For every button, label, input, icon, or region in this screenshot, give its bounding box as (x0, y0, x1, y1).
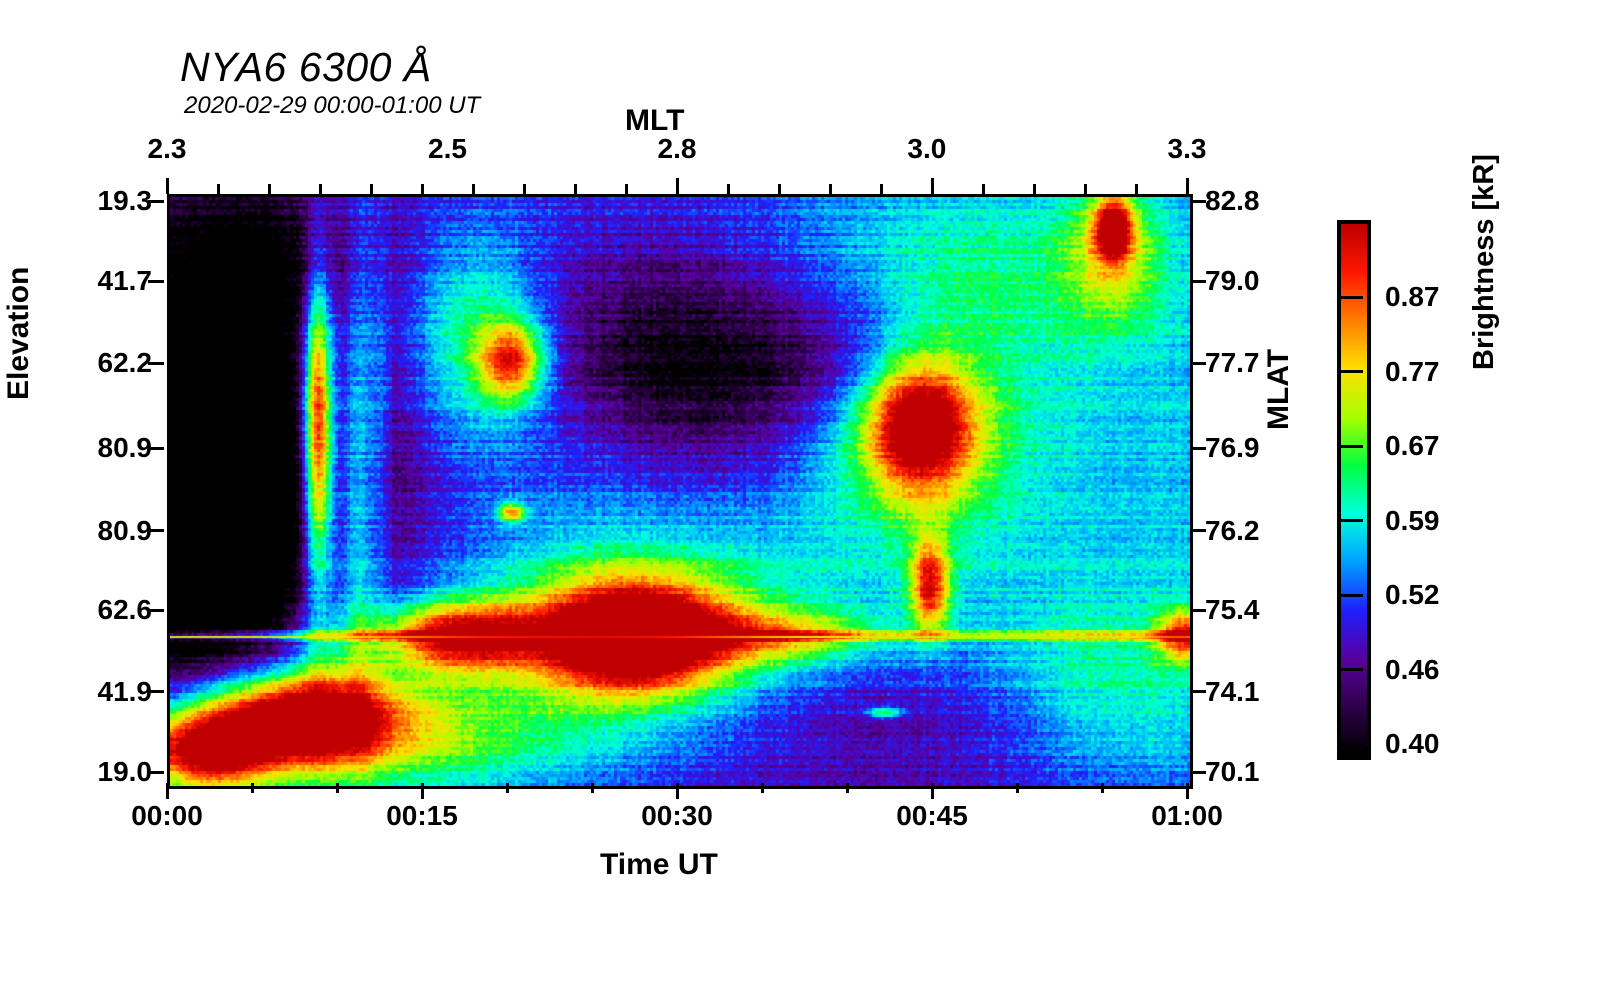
time-tick-mark (251, 783, 254, 793)
time-tick-mark (1186, 783, 1189, 799)
time-tick-mark (591, 783, 594, 793)
time-tick-mark (761, 783, 764, 793)
mlt-tick-label: 3.0 (907, 133, 946, 165)
colorbar[interactable] (1337, 220, 1371, 760)
time-tick-label: 00:15 (386, 800, 458, 832)
mlt-tick-mark (472, 184, 475, 194)
colorbar-tick-label: 0.87 (1385, 281, 1440, 313)
mlt-tick-label: 2.8 (658, 133, 697, 165)
mlat-tick-mark (1190, 362, 1206, 365)
mlat-axis-label: MLAT (1262, 349, 1296, 430)
elevation-tick-label: 41.7 (66, 265, 152, 297)
colorbar-tick-label: 0.67 (1385, 430, 1440, 462)
mlat-tick-mark (1190, 690, 1206, 693)
elevation-tick-label: 80.9 (66, 515, 152, 547)
colorbar-tick-separator (1337, 668, 1363, 671)
mlat-tick-label: 76.2 (1205, 515, 1260, 547)
mlt-tick-mark (1135, 184, 1138, 194)
mlt-tick-mark (1033, 184, 1036, 194)
time-tick-label: 00:45 (896, 800, 968, 832)
mlt-tick-mark (982, 184, 985, 194)
colorbar-tick-separator (1337, 445, 1363, 448)
mlat-tick-label: 75.4 (1205, 594, 1260, 626)
mlt-tick-mark (931, 178, 934, 194)
elevation-tick-mark (148, 280, 164, 283)
colorbar-tick-separator (1337, 594, 1363, 597)
time-tick-mark (846, 783, 849, 793)
colorbar-tick-separator (1337, 743, 1363, 746)
colorbar-tick-label: 0.59 (1385, 505, 1440, 537)
time-axis-label: Time UT (600, 848, 718, 882)
mlt-tick-mark (727, 184, 730, 194)
elevation-tick-mark (148, 529, 164, 532)
mlat-tick-mark (1190, 280, 1206, 283)
mlt-tick-mark (217, 184, 220, 194)
mlt-tick-label: 2.5 (428, 133, 467, 165)
mlt-tick-label: 3.3 (1168, 133, 1207, 165)
mlat-tick-label: 70.1 (1205, 756, 1260, 788)
colorbar-tick-separator (1337, 519, 1363, 522)
mlt-tick-mark (1084, 184, 1087, 194)
elevation-tick-label: 62.2 (66, 347, 152, 379)
keogram-image[interactable] (170, 197, 1190, 786)
mlat-tick-label: 77.7 (1205, 347, 1260, 379)
mlt-tick-mark (625, 184, 628, 194)
mlt-tick-mark (523, 184, 526, 194)
mlt-tick-mark (574, 184, 577, 194)
colorbar-tick-label: 0.52 (1385, 579, 1440, 611)
time-tick-mark (931, 783, 934, 799)
mlt-tick-mark (421, 184, 424, 194)
mlt-tick-mark (166, 178, 169, 194)
mlat-tick-mark (1190, 447, 1206, 450)
mlt-tick-mark (370, 184, 373, 194)
elevation-tick-mark (148, 771, 164, 774)
time-tick-mark (421, 783, 424, 799)
time-tick-mark (166, 783, 169, 799)
mlt-tick-mark (676, 178, 679, 194)
time-tick-mark (1101, 783, 1104, 793)
elevation-tick-mark (148, 690, 164, 693)
time-tick-mark (1016, 783, 1019, 793)
elevation-tick-mark (148, 447, 164, 450)
mlt-tick-mark (880, 184, 883, 194)
elevation-tick-label: 41.9 (66, 676, 152, 708)
colorbar-tick-label: 0.77 (1385, 356, 1440, 388)
mlat-tick-mark (1190, 609, 1206, 612)
colorbar-gradient (1341, 224, 1367, 756)
mlat-tick-mark (1190, 771, 1206, 774)
elevation-tick-label: 19.3 (66, 185, 152, 217)
elevation-tick-label: 80.9 (66, 432, 152, 464)
mlt-tick-mark (778, 184, 781, 194)
mlat-tick-label: 76.9 (1205, 432, 1260, 464)
mlt-tick-mark (1186, 178, 1189, 194)
keogram-plot-area[interactable] (167, 194, 1193, 789)
mlt-tick-mark (829, 184, 832, 194)
colorbar-tick-label: 0.46 (1385, 654, 1440, 686)
colorbar-tick-separator (1337, 370, 1363, 373)
plot-title: NYA6 6300 Å (180, 44, 432, 91)
plot-subtitle: 2020-02-29 00:00-01:00 UT (184, 92, 480, 120)
elevation-tick-mark (148, 362, 164, 365)
mlt-tick-label: 2.3 (148, 133, 187, 165)
colorbar-tick-separator (1337, 296, 1363, 299)
mlat-tick-label: 79.0 (1205, 265, 1260, 297)
elevation-tick-mark (148, 609, 164, 612)
time-tick-label: 00:30 (641, 800, 713, 832)
elevation-tick-label: 19.0 (66, 756, 152, 788)
mlat-tick-label: 82.8 (1205, 185, 1260, 217)
mlt-tick-mark (268, 184, 271, 194)
elevation-tick-label: 62.6 (66, 594, 152, 626)
time-tick-mark (336, 783, 339, 793)
elevation-tick-mark (148, 200, 164, 203)
time-tick-mark (506, 783, 509, 793)
mlat-tick-mark (1190, 529, 1206, 532)
mlat-tick-label: 74.1 (1205, 676, 1260, 708)
colorbar-label: Brightness [kR] (1468, 154, 1501, 370)
time-tick-mark (676, 783, 679, 799)
colorbar-tick-label: 0.40 (1385, 728, 1440, 760)
time-tick-label: 01:00 (1151, 800, 1223, 832)
mlt-tick-mark (319, 184, 322, 194)
time-tick-label: 00:00 (131, 800, 203, 832)
mlat-tick-mark (1190, 200, 1206, 203)
elevation-axis-label: Elevation (2, 267, 36, 400)
